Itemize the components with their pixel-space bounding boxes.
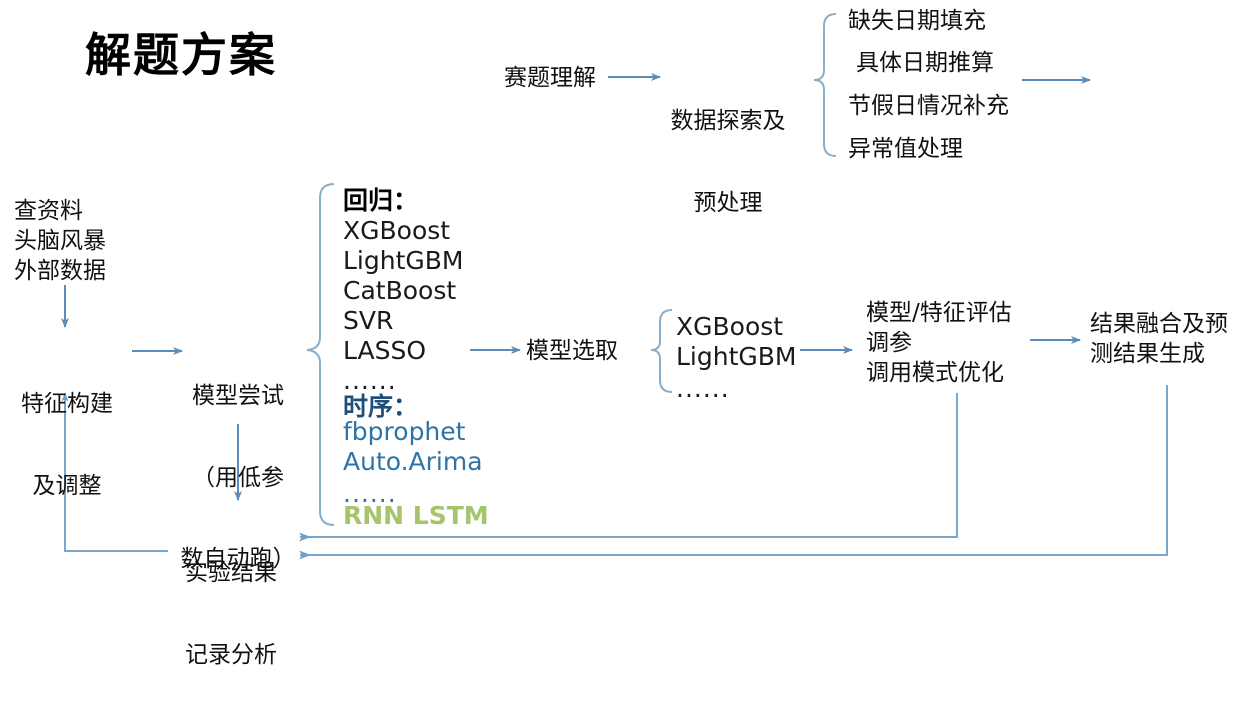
node-model-selection: 模型选取: [526, 338, 618, 365]
list-item-timeseries-0: fbprophet: [343, 417, 465, 447]
node-input-research: 查资料: [14, 198, 83, 225]
diagram-canvas: 解题方案 赛题理解 数据探索及 预处理 缺失日期填充 具体日期推算 节假日情况补…: [0, 0, 1257, 581]
list-item-regression-1: LightGBM: [343, 246, 463, 276]
brace-selected-models: [651, 310, 672, 392]
heading-regression: 回归：: [343, 186, 418, 216]
node-data-exploration: 数据探索及 预处理: [663, 54, 793, 271]
node-evaluation-line2: 调参: [866, 330, 912, 357]
page-title: 解题方案: [85, 28, 277, 82]
node-experiment-record: 实验结果 记录分析: [168, 506, 294, 723]
list-item-regression-0: XGBoost: [343, 216, 450, 246]
node-feature-engineering-line1: 特征构建: [5, 391, 129, 418]
node-model-trial-line2: （用低参: [174, 465, 302, 492]
node-feature-engineering-line2: 及调整: [5, 473, 129, 500]
node-input-brainstorm: 头脑风暴: [14, 228, 106, 255]
node-model-trial-line1: 模型尝试: [174, 383, 302, 410]
list-item-preprocess-0: 缺失日期填充: [848, 8, 986, 35]
node-feature-engineering: 特征构建 及调整: [5, 337, 129, 554]
list-item-timeseries-1: Auto.Arima: [343, 447, 483, 477]
node-data-exploration-line2: 预处理: [663, 190, 793, 217]
brace-preprocess: [814, 14, 836, 156]
node-experiment-record-line1: 实验结果: [168, 560, 294, 587]
list-item-regression-3: SVR: [343, 306, 393, 336]
list-item-regression-4: LASSO: [343, 336, 426, 366]
node-result-fusion-line2: 测结果生成: [1090, 341, 1205, 368]
list-item-preprocess-1: 具体日期推算: [856, 50, 994, 77]
node-evaluation-line3: 调用模式优化: [866, 360, 1004, 387]
list-item-regression-2: CatBoost: [343, 276, 456, 306]
node-data-exploration-line1: 数据探索及: [663, 108, 793, 135]
list-item-preprocess-3: 异常值处理: [848, 136, 963, 163]
list-item-selected-0: XGBoost: [676, 312, 783, 342]
brace-model-list: [307, 184, 334, 525]
list-item-preprocess-2: 节假日情况补充: [848, 93, 1009, 120]
node-experiment-record-line2: 记录分析: [168, 642, 294, 669]
node-evaluation-line1: 模型/特征评估: [866, 300, 1012, 327]
node-topic-understanding: 赛题理解: [504, 65, 596, 92]
ellipsis-selected: ......: [676, 374, 730, 404]
node-result-fusion-line1: 结果融合及预: [1090, 311, 1228, 338]
list-item-selected-1: LightGBM: [676, 342, 796, 372]
node-input-external-data: 外部数据: [14, 258, 106, 285]
list-item-deep-learning: RNN LSTM: [343, 501, 489, 531]
